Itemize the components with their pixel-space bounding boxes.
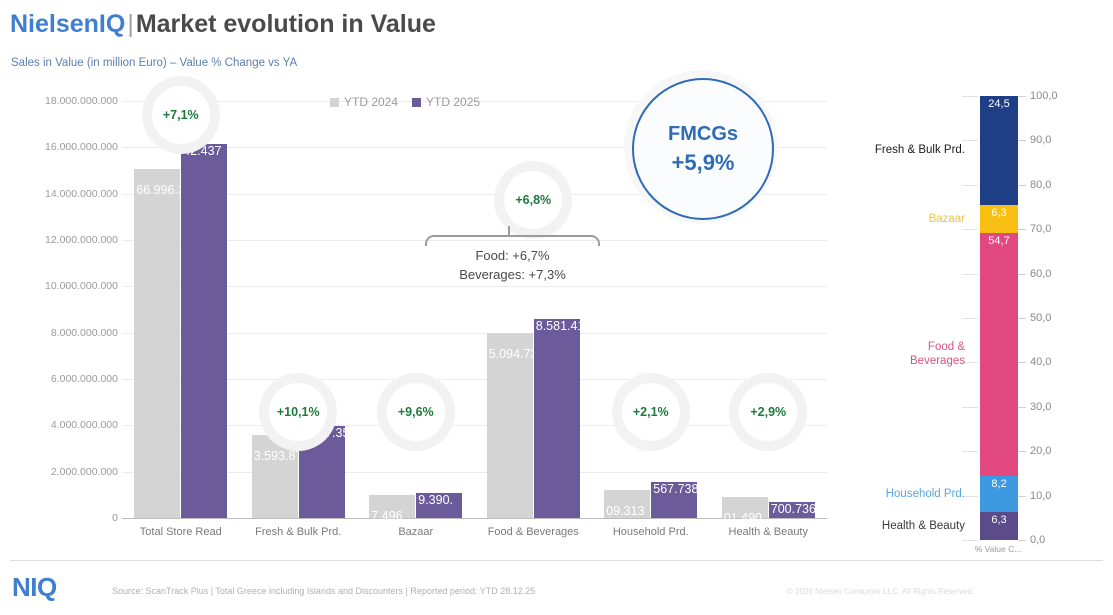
stack-gridline bbox=[962, 540, 978, 541]
stack-gridline bbox=[962, 96, 978, 97]
growth-badge-inner: +9,6% bbox=[387, 383, 445, 441]
stack-axis-tick bbox=[1018, 407, 1026, 408]
stack-axis-tick-label: 30,0 bbox=[1030, 401, 1051, 413]
stack-segment: 6,3 bbox=[980, 512, 1018, 540]
stack-segment: 6,3 bbox=[980, 205, 1018, 233]
bar-data-label: 09.313 bbox=[606, 504, 644, 518]
growth-badge-inner: +6,8% bbox=[504, 171, 562, 229]
x-axis-label: Total Store Read bbox=[121, 526, 241, 540]
y-axis-labels: 02.000.000.0004.000.000.0006.000.000.000… bbox=[0, 78, 118, 518]
stack-segment-value: 6,3 bbox=[991, 512, 1006, 526]
stack-segment-value: 24,5 bbox=[988, 96, 1009, 110]
value-share-stacked-chart: 6,38,254,76,324,5 0,010,020,030,040,050,… bbox=[840, 85, 1113, 555]
gridline bbox=[122, 379, 827, 380]
growth-badge-inner: +7,1% bbox=[152, 86, 210, 144]
legend-item[interactable]: YTD 2025 bbox=[412, 95, 480, 109]
bar-ytd-2024 bbox=[134, 169, 180, 518]
x-axis-label: Household Prd. bbox=[591, 526, 711, 540]
stack-axis-tick-label: 20,0 bbox=[1030, 445, 1051, 457]
bar-data-label: 700.736. bbox=[771, 502, 820, 516]
callout-line-2: Beverages: +7,3% bbox=[425, 265, 600, 284]
brand-name: NielsenIQ bbox=[10, 10, 125, 38]
stack-gridline bbox=[962, 274, 978, 275]
title-text: Market evolution in Value bbox=[136, 10, 436, 38]
bar-ytd-2025 bbox=[534, 319, 580, 518]
bar-data-label: 01.490 bbox=[724, 511, 762, 525]
stacked-axis-caption: % Value C... bbox=[958, 544, 1038, 554]
stack-axis-tick-label: 100,0 bbox=[1030, 90, 1058, 102]
growth-badge-value: +6,8% bbox=[515, 193, 551, 207]
chart-legend: YTD 2024YTD 2025 bbox=[330, 95, 480, 109]
y-axis-tick-label: 12.000.000.000 bbox=[45, 234, 118, 246]
fmcg-value: +5,9% bbox=[672, 150, 735, 176]
stack-segment: 24,5 bbox=[980, 96, 1018, 205]
y-axis-tick-label: 8.000.000.000 bbox=[51, 327, 118, 339]
growth-badge-inner: +2,9% bbox=[739, 383, 797, 441]
growth-badge-value: +10,1% bbox=[277, 405, 320, 419]
stack-segment-label: Health & Beauty bbox=[882, 519, 965, 533]
stack-axis-tick bbox=[1018, 140, 1026, 141]
x-axis-label: Fresh & Bulk Prd. bbox=[238, 526, 358, 540]
stack-axis-tick bbox=[1018, 96, 1026, 97]
stack-gridline bbox=[962, 140, 978, 141]
stack-segment-value: 8,2 bbox=[991, 476, 1006, 490]
stack-gridline bbox=[962, 229, 978, 230]
growth-badge: +6,8% bbox=[494, 161, 572, 239]
y-axis-tick-label: 6.000.000.000 bbox=[51, 373, 118, 385]
growth-badge-inner: +10,1% bbox=[269, 383, 327, 441]
fmcg-label: FMCGs bbox=[668, 123, 738, 146]
growth-badge: +10,1% bbox=[259, 373, 337, 451]
y-axis-tick-label: 4.000.000.000 bbox=[51, 419, 118, 431]
page-title: NielsenIQ|Market evolution in Value bbox=[10, 10, 436, 39]
stack-axis-tick-label: 70,0 bbox=[1030, 223, 1051, 235]
page-footer: NIQ Source: ScanTrack Plus | Total Greec… bbox=[0, 560, 1113, 615]
stack-gridline bbox=[962, 318, 978, 319]
title-separator: | bbox=[125, 10, 136, 38]
y-axis-tick-label: 18.000.000.000 bbox=[45, 95, 118, 107]
stack-axis-tick-label: 10,0 bbox=[1030, 490, 1051, 502]
niq-logo: NIQ bbox=[12, 572, 57, 603]
legend-swatch bbox=[330, 98, 339, 107]
stack-gridline bbox=[962, 185, 978, 186]
stack-segment-label: Household Prd. bbox=[886, 487, 965, 501]
bar-ytd-2025 bbox=[181, 144, 227, 518]
stack-axis-tick-label: 90,0 bbox=[1030, 134, 1051, 146]
x-axis-line bbox=[122, 518, 827, 519]
stack-axis-tick bbox=[1018, 229, 1026, 230]
callout-text: Food: +6,7% Beverages: +7,3% bbox=[425, 246, 600, 284]
bar-data-label: 567.738. bbox=[653, 482, 702, 496]
stack-axis-tick-label: 80,0 bbox=[1030, 179, 1051, 191]
stack-segment-label: Food & Beverages bbox=[910, 340, 965, 368]
stack-segment: 54,7 bbox=[980, 233, 1018, 476]
stack-segment-value: 54,7 bbox=[988, 233, 1009, 247]
stack-segment-label: Fresh & Bulk Prd. bbox=[875, 143, 965, 157]
stack-axis-tick bbox=[1018, 451, 1026, 452]
gridline bbox=[122, 425, 827, 426]
y-axis-tick-label: 10.000.000.000 bbox=[45, 280, 118, 292]
growth-badge-value: +7,1% bbox=[163, 108, 199, 122]
growth-badge: +9,6% bbox=[377, 373, 455, 451]
x-axis-label: Food & Beverages bbox=[473, 526, 593, 540]
page-header: NielsenIQ|Market evolution in Value Sale… bbox=[0, 0, 1113, 72]
growth-badge: +2,1% bbox=[612, 373, 690, 451]
x-axis-label: Bazaar bbox=[356, 526, 476, 540]
callout-line-1: Food: +6,7% bbox=[425, 246, 600, 265]
x-axis-label: Health & Beauty bbox=[708, 526, 828, 540]
y-axis-tick-label: 16.000.000.000 bbox=[45, 141, 118, 153]
copyright-note: © 2026 Nielsen Consumer LLC. All Rights … bbox=[787, 587, 974, 596]
stack-segment-value: 6,3 bbox=[991, 205, 1006, 219]
legend-label: YTD 2024 bbox=[344, 95, 398, 109]
footer-divider bbox=[10, 560, 1103, 561]
gridline bbox=[122, 472, 827, 473]
stack-axis-tick-label: 40,0 bbox=[1030, 356, 1051, 368]
growth-badge-inner: +2,1% bbox=[622, 383, 680, 441]
gridline bbox=[122, 286, 827, 287]
stack-axis-tick bbox=[1018, 362, 1026, 363]
bar-data-label: 7.496 bbox=[371, 509, 402, 523]
growth-badge: +7,1% bbox=[142, 76, 220, 154]
stack-axis-tick bbox=[1018, 540, 1026, 541]
stack-gridline bbox=[962, 407, 978, 408]
stack-axis-tick bbox=[1018, 274, 1026, 275]
page-subtitle: Sales in Value (in million Euro) – Value… bbox=[11, 57, 297, 69]
stack-segment: 8,2 bbox=[980, 476, 1018, 512]
legend-label: YTD 2025 bbox=[426, 95, 480, 109]
stacked-bar: 6,38,254,76,324,5 bbox=[980, 96, 1018, 540]
fmcg-highlight-circle: FMCGs +5,9% bbox=[632, 78, 774, 220]
legend-swatch bbox=[412, 98, 421, 107]
stack-gridline bbox=[962, 451, 978, 452]
growth-badge: +2,9% bbox=[729, 373, 807, 451]
stack-axis-tick-label: 60,0 bbox=[1030, 268, 1051, 280]
bar-data-label: 9.390. bbox=[418, 493, 453, 507]
gridline bbox=[122, 333, 827, 334]
stack-axis-tick bbox=[1018, 496, 1026, 497]
stack-axis-tick bbox=[1018, 185, 1026, 186]
source-note: Source: ScanTrack Plus | Total Greece in… bbox=[112, 586, 535, 596]
stack-axis-tick bbox=[1018, 318, 1026, 319]
growth-badge-value: +9,6% bbox=[398, 405, 434, 419]
y-axis-tick-label: 0 bbox=[112, 512, 118, 524]
legend-item[interactable]: YTD 2024 bbox=[330, 95, 398, 109]
stack-segment-label: Bazaar bbox=[929, 212, 965, 226]
growth-badge-value: +2,9% bbox=[750, 405, 786, 419]
y-axis-tick-label: 14.000.000.000 bbox=[45, 188, 118, 200]
stack-axis-tick-label: 50,0 bbox=[1030, 312, 1051, 324]
bar-data-label: 8.581.418. bbox=[536, 319, 595, 333]
y-axis-tick-label: 2.000.000.000 bbox=[51, 466, 118, 478]
growth-badge-value: +2,1% bbox=[633, 405, 669, 419]
